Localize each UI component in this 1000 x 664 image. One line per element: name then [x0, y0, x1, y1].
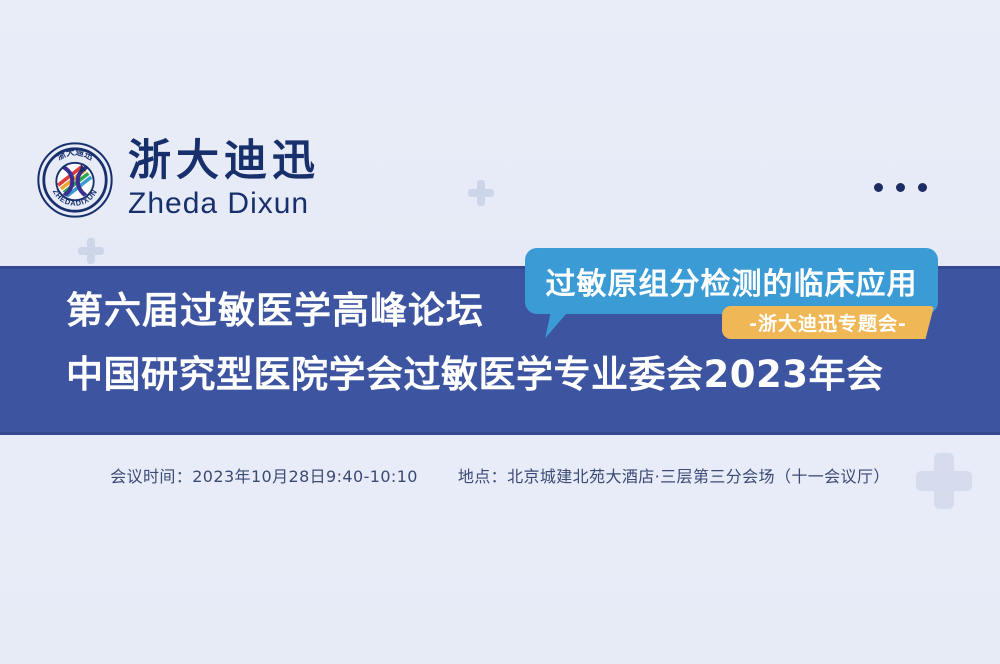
- dot-icon: [874, 183, 883, 192]
- conference-banner: 浙大迪迅 ZHEDADIXUN 浙大迪迅 Zheda Dix: [0, 0, 1000, 664]
- topic-session-tag: -浙大迪迅专题会-: [722, 306, 934, 339]
- meta-row: 会议时间：2023年10月28日9:40-10:10 地点：北京城建北苑大酒店·…: [0, 463, 1000, 487]
- meeting-time: 会议时间：2023年10月28日9:40-10:10: [110, 463, 418, 487]
- speech-bubble-tail: [545, 312, 585, 338]
- three-dots-decoration: [874, 183, 927, 192]
- brand-name-en: Zheda Dixun: [128, 189, 320, 219]
- brand-logo-text: 浙大迪迅 Zheda Dixun: [128, 140, 320, 219]
- conference-title-line-2: 中国研究型医院学会过敏医学专业委会2023年会: [66, 342, 946, 408]
- dot-icon: [896, 183, 905, 192]
- topic-speech-bubble: 过敏原组分检测的临床应用: [525, 248, 938, 314]
- dot-icon: [918, 183, 927, 192]
- brand-name-cn: 浙大迪迅: [128, 140, 320, 183]
- brand-logo: 浙大迪迅 ZHEDADIXUN 浙大迪迅 Zheda Dix: [36, 140, 320, 219]
- topic-session-tag-label: -浙大迪迅专题会-: [749, 309, 907, 336]
- meeting-location: 地点：北京城建北苑大酒店·三层第三分会场（十一会议厅）: [458, 463, 890, 487]
- zhedadixun-emblem-icon: 浙大迪迅 ZHEDADIXUN: [36, 141, 114, 219]
- topic-title: 过敏原组分检测的临床应用: [546, 259, 918, 303]
